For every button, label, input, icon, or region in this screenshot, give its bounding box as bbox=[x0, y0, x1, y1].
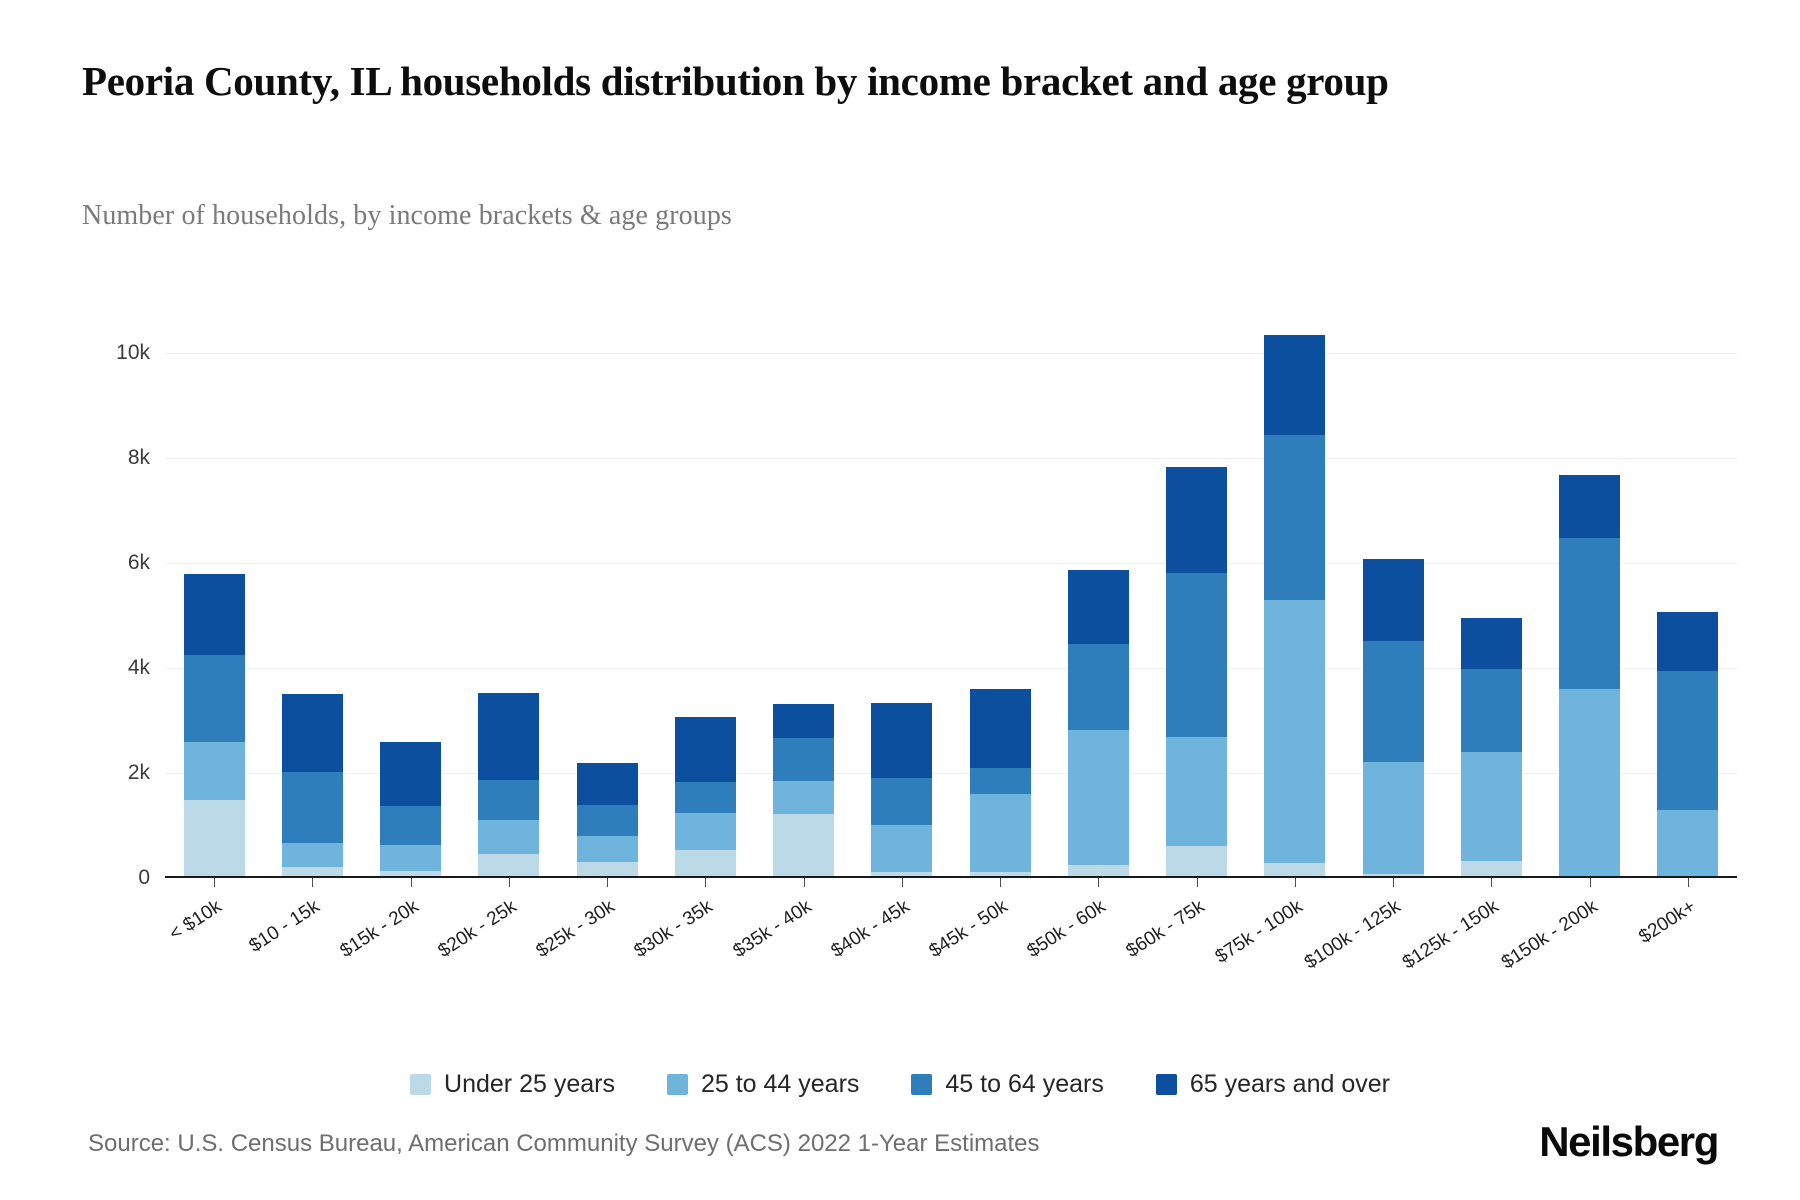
bar-column[interactable]: $45k - 50k bbox=[951, 300, 1049, 878]
bar-segment[interactable] bbox=[1461, 752, 1522, 861]
bar-segment[interactable] bbox=[1068, 730, 1129, 865]
bar-stack[interactable] bbox=[1068, 570, 1129, 878]
bar-segment[interactable] bbox=[1264, 435, 1325, 599]
bar-column[interactable]: $100k - 125k bbox=[1344, 300, 1442, 878]
x-axis-tick-label: $125k - 150k bbox=[1399, 896, 1503, 974]
brand-logo: Neilsberg bbox=[1539, 1118, 1718, 1166]
bar-segment[interactable] bbox=[773, 738, 834, 782]
plot-area: < $10k$10 - 15k$15k - 20k$20k - 25k$25k … bbox=[165, 300, 1737, 878]
bar-stack[interactable] bbox=[380, 742, 441, 878]
bar-segment[interactable] bbox=[675, 717, 736, 782]
x-axis-tick-label: $30k - 35k bbox=[631, 896, 717, 963]
bar-column[interactable]: $20k - 25k bbox=[460, 300, 558, 878]
bar-segment[interactable] bbox=[675, 782, 736, 814]
bar-segment[interactable] bbox=[970, 768, 1031, 795]
bar-segment[interactable] bbox=[1657, 810, 1718, 878]
bar-column[interactable]: $10 - 15k bbox=[263, 300, 361, 878]
bar-stack[interactable] bbox=[1166, 467, 1227, 878]
legend-swatch bbox=[667, 1074, 688, 1095]
bar-segment[interactable] bbox=[1559, 475, 1620, 538]
x-axis-tick-mark bbox=[607, 878, 608, 887]
x-axis-tick-label: $45k - 50k bbox=[926, 896, 1012, 963]
x-axis-tick-mark bbox=[1098, 878, 1099, 887]
x-axis-tick-mark bbox=[1197, 878, 1198, 887]
x-axis-tick-label: $10 - 15k bbox=[246, 896, 324, 958]
bar-segment[interactable] bbox=[380, 806, 441, 845]
x-axis-tick-label: $200k+ bbox=[1635, 896, 1700, 949]
legend-label: 45 to 64 years bbox=[945, 1070, 1103, 1099]
bar-segment[interactable] bbox=[478, 854, 539, 878]
x-axis-tick-label: $35k - 40k bbox=[729, 896, 815, 963]
bar-segment[interactable] bbox=[1559, 689, 1620, 878]
bar-segment[interactable] bbox=[478, 693, 539, 780]
legend-label: 25 to 44 years bbox=[701, 1070, 859, 1099]
bar-column[interactable]: $50k - 60k bbox=[1049, 300, 1147, 878]
bar-segment[interactable] bbox=[1166, 573, 1227, 737]
y-axis-tick-label: 2k bbox=[82, 761, 150, 785]
bar-stack[interactable] bbox=[1461, 618, 1522, 878]
x-axis-tick-mark bbox=[509, 878, 510, 887]
bar-segment[interactable] bbox=[1363, 762, 1424, 874]
bar-segment[interactable] bbox=[970, 794, 1031, 872]
bar-segment[interactable] bbox=[1068, 570, 1129, 644]
x-axis-tick-mark bbox=[214, 878, 215, 887]
legend-swatch bbox=[410, 1074, 431, 1095]
bar-column[interactable]: $75k - 100k bbox=[1246, 300, 1344, 878]
bar-segment[interactable] bbox=[282, 694, 343, 772]
x-axis-tick-label: < $10k bbox=[166, 896, 226, 946]
y-axis-tick-label: 10k bbox=[82, 341, 150, 365]
bar-stack[interactable] bbox=[478, 693, 539, 878]
bar-segment[interactable] bbox=[380, 742, 441, 806]
page-subtitle: Number of households, by income brackets… bbox=[82, 200, 732, 232]
bar-segment[interactable] bbox=[184, 742, 245, 800]
bar-group: < $10k$10 - 15k$15k - 20k$20k - 25k$25k … bbox=[165, 300, 1737, 878]
bar-segment[interactable] bbox=[282, 843, 343, 867]
bar-column[interactable]: $15k - 20k bbox=[362, 300, 460, 878]
legend-item[interactable]: Under 25 years bbox=[410, 1070, 615, 1099]
bar-column[interactable]: $30k - 35k bbox=[656, 300, 754, 878]
bar-segment[interactable] bbox=[871, 703, 932, 778]
bar-segment[interactable] bbox=[1363, 559, 1424, 640]
legend-swatch bbox=[911, 1074, 932, 1095]
legend-label: 65 years and over bbox=[1190, 1070, 1390, 1099]
bar-stack[interactable] bbox=[1559, 475, 1620, 878]
page-title: Peoria County, IL households distributio… bbox=[82, 55, 1642, 107]
bar-column[interactable]: $60k - 75k bbox=[1148, 300, 1246, 878]
bar-segment[interactable] bbox=[577, 836, 638, 862]
x-axis-tick-mark bbox=[705, 878, 706, 887]
bar-segment[interactable] bbox=[478, 780, 539, 820]
bar-stack[interactable] bbox=[1657, 612, 1718, 878]
y-axis-tick-label: 4k bbox=[82, 656, 150, 680]
bar-segment[interactable] bbox=[577, 763, 638, 805]
x-axis-tick-label: $50k - 60k bbox=[1024, 896, 1110, 963]
bar-column[interactable]: $35k - 40k bbox=[755, 300, 853, 878]
y-axis-tick-label: 6k bbox=[82, 551, 150, 575]
bar-segment[interactable] bbox=[970, 689, 1031, 767]
chart-page: Peoria County, IL households distributio… bbox=[0, 0, 1800, 1200]
bar-stack[interactable] bbox=[871, 703, 932, 878]
bar-column[interactable]: $125k - 150k bbox=[1442, 300, 1540, 878]
legend-swatch bbox=[1156, 1074, 1177, 1095]
x-axis-tick-label: $20k - 25k bbox=[434, 896, 520, 963]
bar-stack[interactable] bbox=[184, 574, 245, 878]
bar-segment[interactable] bbox=[675, 850, 736, 878]
x-axis-tick-mark bbox=[1393, 878, 1394, 887]
bar-segment[interactable] bbox=[282, 772, 343, 843]
x-axis-tick-mark bbox=[1491, 878, 1492, 887]
bar-column[interactable]: $40k - 45k bbox=[853, 300, 951, 878]
bar-segment[interactable] bbox=[1461, 618, 1522, 668]
bar-segment[interactable] bbox=[773, 814, 834, 878]
bar-segment[interactable] bbox=[1657, 671, 1718, 810]
bar-segment[interactable] bbox=[184, 574, 245, 654]
y-axis-tick-label: 0 bbox=[82, 866, 150, 890]
x-axis-tick-mark bbox=[1688, 878, 1689, 887]
bar-segment[interactable] bbox=[577, 805, 638, 836]
x-axis-tick-label: $75k - 100k bbox=[1212, 896, 1307, 969]
bar-segment[interactable] bbox=[184, 655, 245, 742]
bar-segment[interactable] bbox=[1461, 669, 1522, 752]
bar-stack[interactable] bbox=[675, 717, 736, 878]
bar-segment[interactable] bbox=[773, 704, 834, 738]
bar-stack[interactable] bbox=[1363, 559, 1424, 878]
x-axis-tick-label: $150k - 200k bbox=[1497, 896, 1601, 974]
legend-label: Under 25 years bbox=[444, 1070, 615, 1099]
x-axis-tick-label: $40k - 45k bbox=[827, 896, 913, 963]
x-axis-tick-label: $100k - 125k bbox=[1301, 896, 1405, 974]
bar-stack[interactable] bbox=[970, 689, 1031, 878]
bar-segment[interactable] bbox=[380, 845, 441, 871]
bar-segment[interactable] bbox=[1657, 612, 1718, 671]
x-axis-tick-mark bbox=[804, 878, 805, 887]
x-axis-tick-mark bbox=[1295, 878, 1296, 887]
bar-segment[interactable] bbox=[478, 820, 539, 854]
legend-item[interactable]: 65 years and over bbox=[1156, 1070, 1390, 1099]
bar-segment[interactable] bbox=[1264, 335, 1325, 435]
bar-segment[interactable] bbox=[1559, 538, 1620, 689]
bar-segment[interactable] bbox=[184, 800, 245, 878]
bar-column[interactable]: < $10k bbox=[165, 300, 263, 878]
bar-segment[interactable] bbox=[773, 781, 834, 814]
bar-column[interactable]: $25k - 30k bbox=[558, 300, 656, 878]
bar-segment[interactable] bbox=[1363, 641, 1424, 762]
x-axis-tick-mark bbox=[902, 878, 903, 887]
bar-segment[interactable] bbox=[1264, 600, 1325, 863]
x-axis-tick-mark bbox=[411, 878, 412, 887]
source-note: Source: U.S. Census Bureau, American Com… bbox=[88, 1130, 1040, 1158]
legend-item[interactable]: 25 to 44 years bbox=[667, 1070, 859, 1099]
x-axis-tick-label: $15k - 20k bbox=[336, 896, 422, 963]
bar-segment[interactable] bbox=[675, 813, 736, 849]
x-axis-tick-label: $60k - 75k bbox=[1122, 896, 1208, 963]
bar-stack[interactable] bbox=[577, 763, 638, 878]
x-axis-tick-mark bbox=[1000, 878, 1001, 887]
x-axis-line bbox=[165, 876, 1737, 878]
bar-segment[interactable] bbox=[1166, 467, 1227, 573]
bar-stack[interactable] bbox=[773, 704, 834, 878]
bar-stack[interactable] bbox=[1264, 335, 1325, 878]
x-axis-tick-mark bbox=[1590, 878, 1591, 887]
x-axis-tick-label: $25k - 30k bbox=[533, 896, 619, 963]
x-axis-tick-mark bbox=[312, 878, 313, 887]
bar-stack[interactable] bbox=[282, 694, 343, 878]
bar-column[interactable]: $200k+ bbox=[1639, 300, 1737, 878]
bar-column[interactable]: $150k - 200k bbox=[1541, 300, 1639, 878]
bar-segment[interactable] bbox=[871, 778, 932, 826]
bar-segment[interactable] bbox=[1166, 737, 1227, 846]
legend-item[interactable]: 45 to 64 years bbox=[911, 1070, 1103, 1099]
legend: Under 25 years25 to 44 years45 to 64 yea… bbox=[0, 1070, 1800, 1099]
y-axis-tick-label: 8k bbox=[82, 446, 150, 470]
bar-segment[interactable] bbox=[1166, 846, 1227, 878]
bar-segment[interactable] bbox=[871, 825, 932, 871]
bar-segment[interactable] bbox=[1068, 644, 1129, 731]
